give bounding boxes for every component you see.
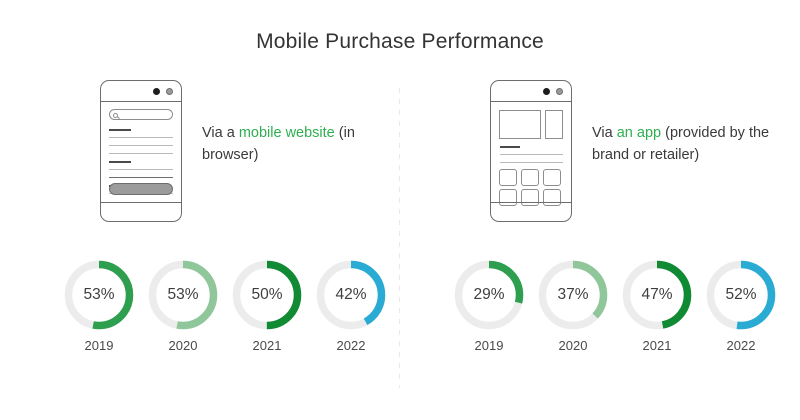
search-icon: [113, 113, 118, 118]
donut-value: 47%: [620, 258, 694, 332]
donut-gauge: 42%: [314, 258, 388, 332]
donut-cell-2020: 37% 2020: [534, 258, 612, 353]
panel-header-mobile-website: Via a mobile website (in browser): [60, 80, 390, 230]
hero-card-mockup: [499, 110, 541, 139]
sensor-dot-icon: [166, 88, 173, 95]
donut-cell-2021: 50% 2021: [228, 258, 306, 353]
donut-cell-2022: 42% 2022: [312, 258, 390, 353]
phone-top-divider: [101, 101, 181, 102]
caption-accent: mobile website: [239, 125, 335, 141]
search-bar-mockup: [109, 109, 173, 120]
donut-gauge: 47%: [620, 258, 694, 332]
content-line: [500, 154, 563, 155]
caption-accent: an app: [617, 125, 661, 141]
app-screen: [497, 107, 565, 197]
donut-year-label: 2019: [450, 338, 528, 353]
donut-year-label: 2022: [312, 338, 390, 353]
panel-an-app: Via an app (provided by the brand or ret…: [450, 80, 780, 230]
donut-value: 42%: [314, 258, 388, 332]
panel-header-an-app: Via an app (provided by the brand or ret…: [450, 80, 780, 230]
donut-gauge: 50%: [230, 258, 304, 332]
app-tile-icon: [499, 169, 517, 186]
caption-an-app: Via an app (provided by the brand or ret…: [592, 122, 787, 166]
content-line: [109, 145, 173, 146]
phone-bottom-divider: [491, 202, 571, 203]
camera-dot-icon: [543, 88, 550, 95]
donut-cell-2019: 53% 2019: [60, 258, 138, 353]
app-tile-icon: [543, 169, 561, 186]
content-line: [500, 146, 520, 148]
page-title: Mobile Purchase Performance: [0, 30, 800, 54]
donut-gauge: 52%: [704, 258, 778, 332]
cta-button-mockup: [109, 183, 173, 195]
donut-value: 37%: [536, 258, 610, 332]
content-line: [109, 169, 173, 170]
app-tile-icon: [499, 189, 517, 206]
donut-year-label: 2022: [702, 338, 780, 353]
donut-value: 52%: [704, 258, 778, 332]
donut-cell-2022: 52% 2022: [702, 258, 780, 353]
app-tile-icon: [543, 189, 561, 206]
phone-app-illustration: [490, 80, 572, 222]
donut-gauge: 29%: [452, 258, 526, 332]
content-line: [109, 137, 173, 138]
phone-top-divider: [491, 101, 571, 102]
camera-dot-icon: [153, 88, 160, 95]
content-line: [109, 129, 131, 131]
caption-prefix: Via: [592, 125, 617, 141]
donut-gauge: 53%: [146, 258, 220, 332]
browser-screen: [107, 107, 175, 197]
donut-year-label: 2019: [60, 338, 138, 353]
content-line: [109, 161, 131, 163]
donut-cell-2020: 53% 2020: [144, 258, 222, 353]
donut-value: 50%: [230, 258, 304, 332]
panel-divider: [399, 88, 400, 388]
content-line: [500, 162, 563, 163]
donut-value: 53%: [146, 258, 220, 332]
panel-mobile-website: Via a mobile website (in browser) 53% 20…: [60, 80, 390, 230]
donut-year-label: 2020: [144, 338, 222, 353]
donut-gauge: 53%: [62, 258, 136, 332]
donut-cell-2021: 47% 2021: [618, 258, 696, 353]
donut-gauge: 37%: [536, 258, 610, 332]
app-tile-icon: [521, 189, 539, 206]
caption-prefix: Via a: [202, 125, 239, 141]
content-line: [109, 177, 173, 178]
caption-mobile-website: Via a mobile website (in browser): [202, 122, 397, 166]
donut-year-label: 2020: [534, 338, 612, 353]
donut-row-mobile-website: 53% 2019 53% 2020: [60, 258, 390, 353]
app-tile-icon: [521, 169, 539, 186]
phone-bottom-divider: [101, 202, 181, 203]
content-line: [109, 153, 173, 154]
sensor-dot-icon: [556, 88, 563, 95]
donut-year-label: 2021: [228, 338, 306, 353]
donut-value: 53%: [62, 258, 136, 332]
infographic-root: Mobile Purchase Performance: [0, 0, 800, 420]
donut-cell-2019: 29% 2019: [450, 258, 528, 353]
phone-browser-illustration: [100, 80, 182, 222]
side-card-mockup: [545, 110, 563, 139]
donut-row-an-app: 29% 2019 37% 2020: [450, 258, 780, 353]
donut-year-label: 2021: [618, 338, 696, 353]
donut-value: 29%: [452, 258, 526, 332]
